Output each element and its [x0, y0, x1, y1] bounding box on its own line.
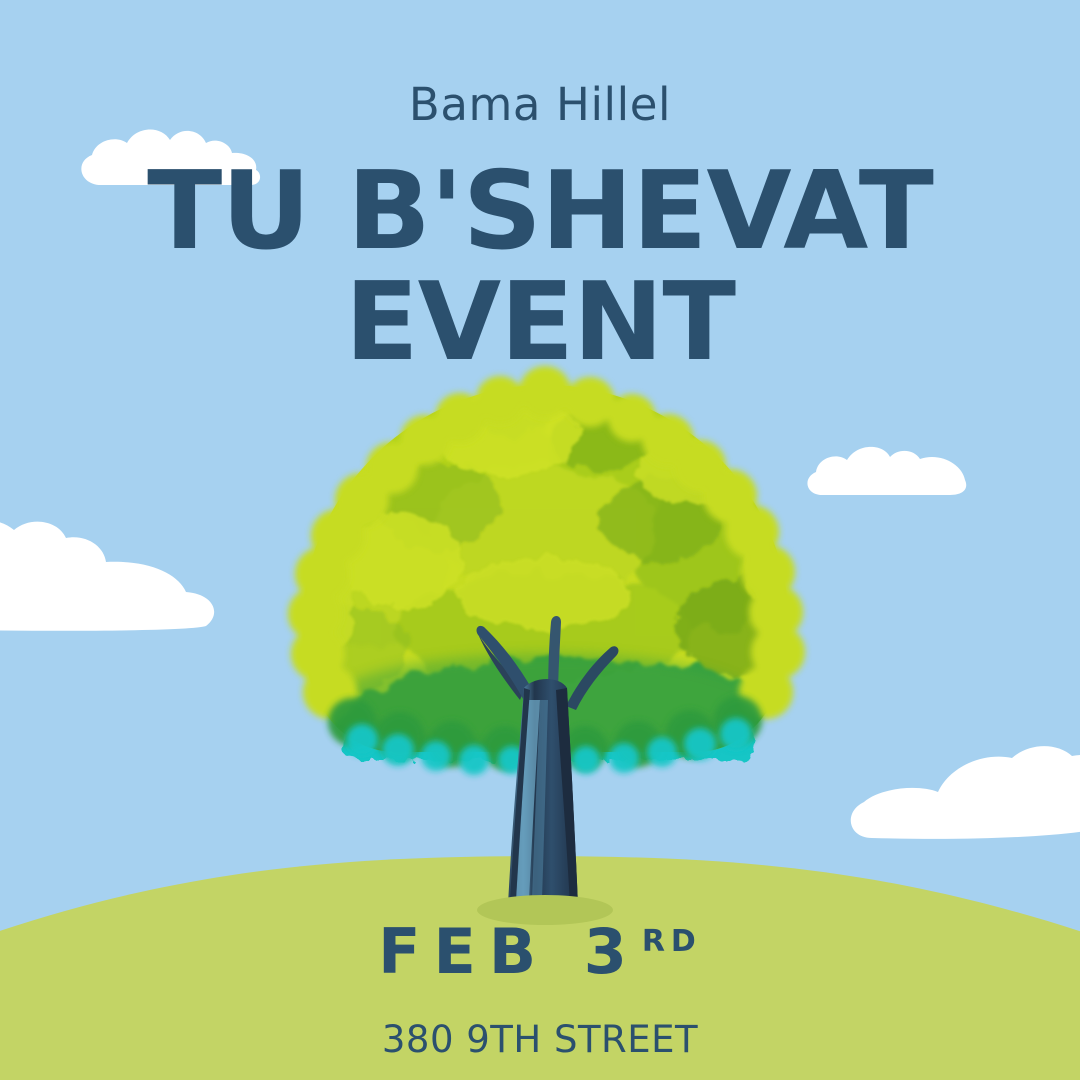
event-date: FEB 3RD: [0, 915, 1080, 988]
organization-name: Bama Hillel: [0, 78, 1080, 131]
title-line-1: TU B'SHEVAT: [0, 160, 1080, 265]
cloud-mid-right: [807, 447, 966, 495]
title-line-2: EVENT: [0, 271, 1080, 376]
cloud-mid-left: [0, 520, 214, 631]
event-date-ordinal: RD: [642, 924, 702, 959]
event-address: 380 9TH STREET: [0, 1018, 1080, 1061]
poster-canvas: Bama Hillel TU B'SHEVAT EVENT FEB 3RD 38…: [0, 0, 1080, 1080]
illustrated-tree: [282, 366, 822, 925]
page-title: TU B'SHEVAT EVENT: [0, 160, 1080, 376]
cloud-bottom-right: [851, 746, 1080, 839]
event-date-main: FEB 3: [378, 915, 640, 988]
